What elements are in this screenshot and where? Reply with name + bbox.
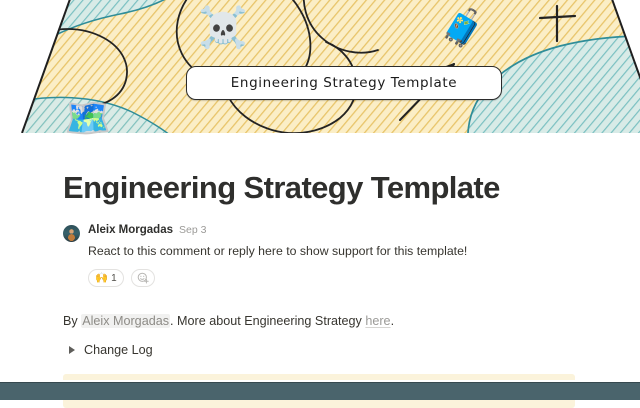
- page-title[interactable]: Engineering Strategy Template: [63, 133, 577, 206]
- avatar[interactable]: [63, 225, 80, 242]
- comment-timestamp: Sep 3: [179, 224, 206, 236]
- byline-author-mention[interactable]: Aleix Morgadas: [81, 314, 170, 328]
- comment-author-name[interactable]: Aleix Morgadas: [88, 224, 173, 236]
- page-icon-button[interactable]: 🗺️: [64, 100, 120, 156]
- add-reaction-icon: [137, 272, 149, 284]
- comment-thread[interactable]: Aleix Morgadas Sep 3 React to this comme…: [63, 224, 577, 287]
- add-reaction-button[interactable]: [131, 269, 155, 287]
- browser-bottom-bar: [0, 382, 640, 400]
- chevron-right-icon[interactable]: [69, 346, 75, 354]
- x-marks-the-spot-icon: [536, 4, 578, 44]
- map-title-banner-label: Engineering Strategy Template: [231, 75, 457, 91]
- skull-and-crossbones-icon: ☠️: [198, 8, 248, 48]
- world-map-icon: 🗺️: [64, 98, 111, 140]
- page-content: Engineering Strategy Template Aleix Morg…: [0, 133, 640, 380]
- raised-hands-icon: 🙌: [95, 273, 108, 284]
- comment-body-text: React to this comment or reply here to s…: [88, 243, 577, 260]
- notion-page: ☠️ 🧳 Engineering Strategy Template 🗺️ En…: [0, 0, 640, 400]
- treasure-chest-icon: 🧳: [440, 10, 485, 46]
- byline-middle: . More about Engineering Strategy: [170, 314, 365, 328]
- byline-prefix: By: [63, 314, 81, 328]
- reaction-bar: 🙌 1: [88, 269, 577, 287]
- reaction-count: 1: [111, 273, 117, 284]
- byline-here-link[interactable]: here: [365, 314, 390, 328]
- map-title-banner: Engineering Strategy Template: [186, 66, 502, 100]
- toggle-change-log-label: Change Log: [84, 343, 153, 357]
- reaction-pill[interactable]: 🙌 1: [88, 269, 124, 287]
- byline-suffix: .: [391, 314, 395, 328]
- comment-header: Aleix Morgadas Sep 3: [88, 224, 577, 238]
- toggle-change-log[interactable]: Change Log: [63, 343, 577, 357]
- avatar-image: [63, 225, 80, 242]
- byline-paragraph: By Aleix Morgadas. More about Engineerin…: [63, 312, 577, 330]
